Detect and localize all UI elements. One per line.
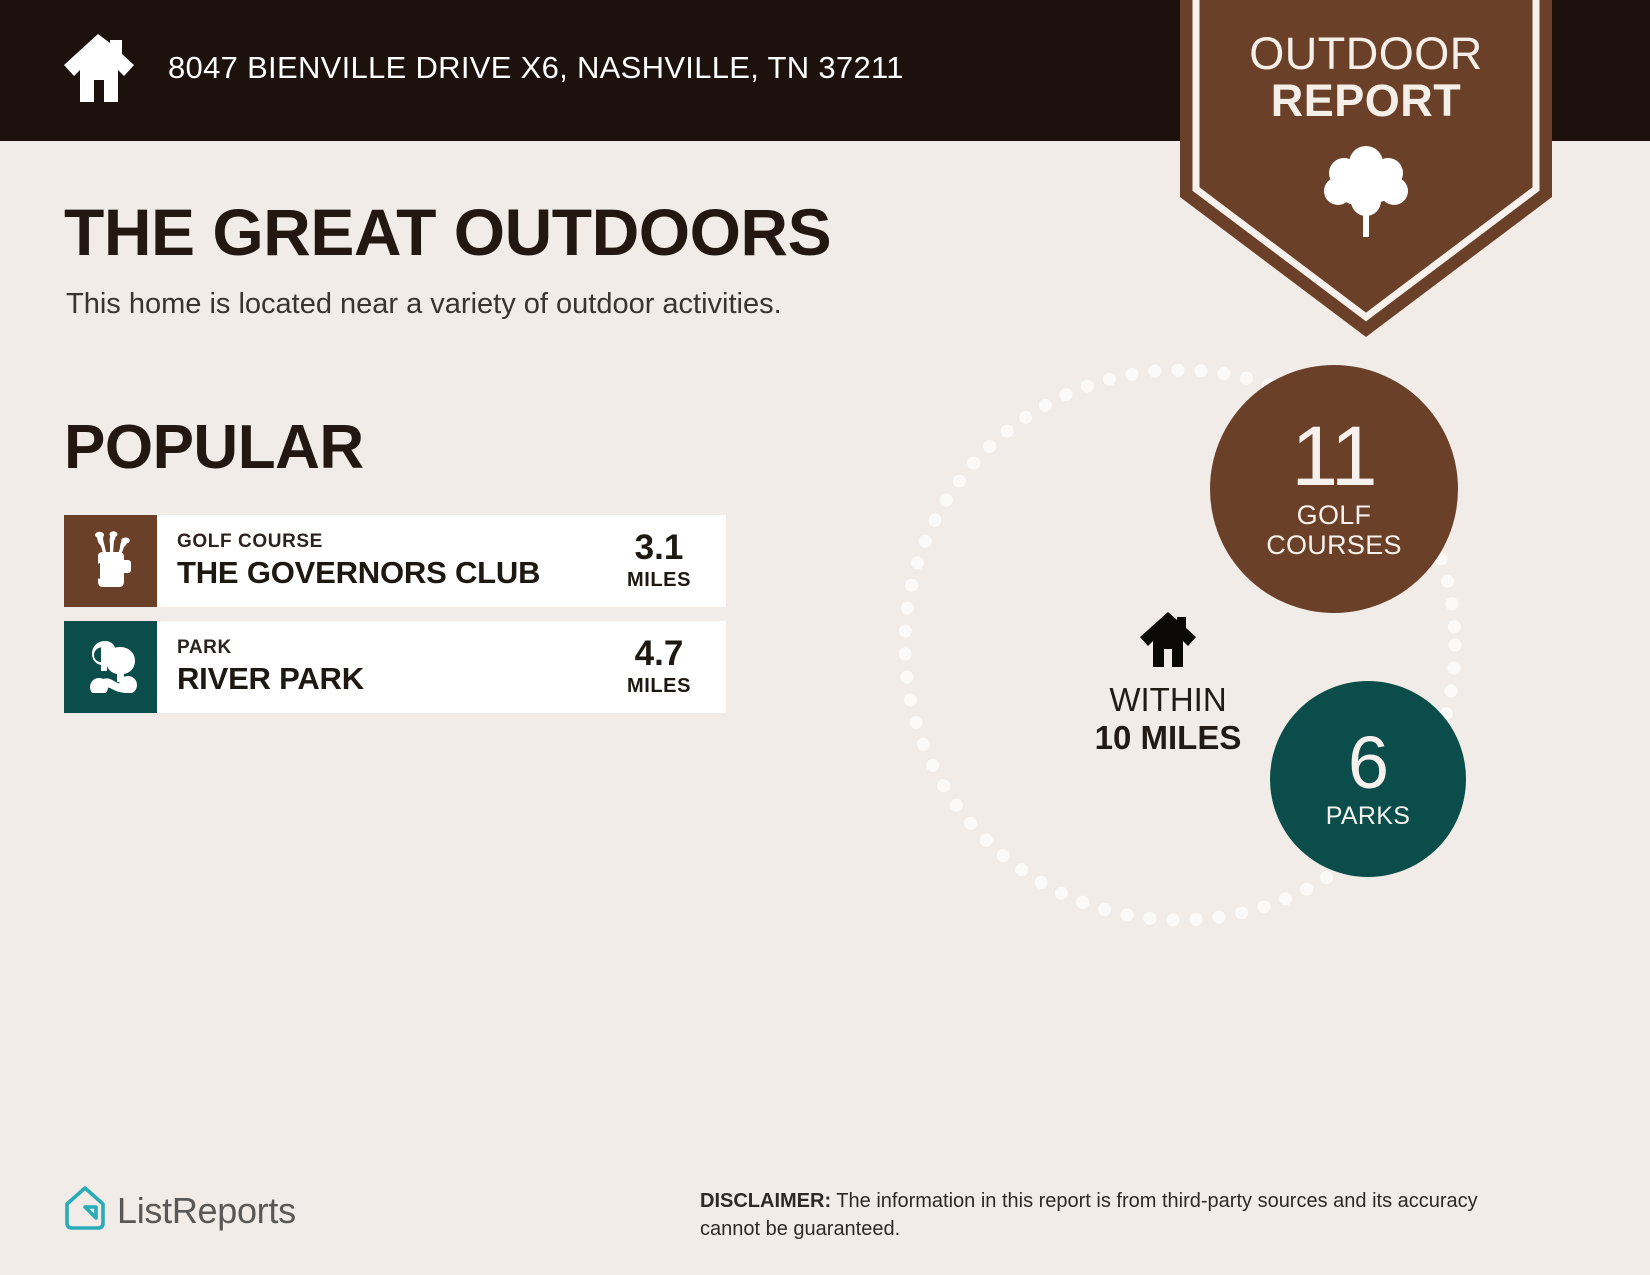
parks-label: PARKS <box>1326 803 1410 830</box>
golf-course-label-line1: GOLF <box>1297 500 1372 530</box>
poi-distance-container: 4.7 MILES <box>606 621 726 713</box>
poi-text-container: GOLF COURSE THE GOVERNORS CLUB <box>157 515 606 607</box>
poi-category: PARK <box>177 637 606 659</box>
listreports-logo[interactable]: ListReports <box>63 1185 296 1236</box>
badge-title-line1: OUTDOOR <box>1180 30 1552 77</box>
poi-name: THE GOVERNORS CLUB <box>177 555 606 591</box>
badge-title-line2: REPORT <box>1180 77 1552 124</box>
outdoor-report-page: 8047 BIENVILLE DRIVE X6, NASHVILLE, TN 3… <box>0 0 1650 1275</box>
popular-list: GOLF COURSE THE GOVERNORS CLUB 3.1 MILES <box>64 515 726 727</box>
golf-course-label-line2: COURSES <box>1266 530 1402 560</box>
poi-distance-unit: MILES <box>627 568 691 592</box>
stat-circle-parks[interactable]: 6 PARKS <box>1270 681 1466 877</box>
list-item[interactable]: PARK RIVER PARK 4.7 MILES <box>64 621 726 713</box>
badge-text-block: OUTDOOR REPORT <box>1180 30 1552 125</box>
list-item[interactable]: GOLF COURSE THE GOVERNORS CLUB 3.1 MILES <box>64 515 726 607</box>
stat-circle-golf-courses[interactable]: 11 GOLF COURSES <box>1210 365 1458 613</box>
outdoor-report-badge: OUTDOOR REPORT <box>1180 0 1552 337</box>
poi-distance-container: 3.1 MILES <box>606 515 726 607</box>
center-home-marker: WITHIN 10 MILES <box>1058 610 1278 757</box>
poi-distance-value: 4.7 <box>635 636 684 673</box>
poi-icon-container <box>64 621 157 713</box>
parks-count: 6 <box>1348 728 1388 798</box>
property-address: 8047 BIENVILLE DRIVE X6, NASHVILLE, TN 3… <box>168 50 904 86</box>
golf-course-label: GOLF COURSES <box>1266 501 1402 559</box>
listreports-house-icon <box>63 1185 107 1236</box>
poi-icon-container <box>64 515 157 607</box>
poi-distance-unit: MILES <box>627 674 691 698</box>
disclaimer: DISCLAIMER: The information in this repo… <box>700 1187 1510 1244</box>
radius-label-line2: 10 MILES <box>1058 719 1278 757</box>
section-title-popular: POPULAR <box>64 412 364 483</box>
golf-course-count: 11 <box>1291 418 1376 495</box>
radius-label-line1: WITHIN <box>1058 681 1278 719</box>
poi-category: GOLF COURSE <box>177 531 606 553</box>
listreports-wordmark: ListReports <box>117 1190 296 1232</box>
home-icon <box>1058 610 1278 673</box>
disclaimer-label: DISCLAIMER: <box>700 1190 831 1212</box>
poi-text-container: PARK RIVER PARK <box>157 621 606 713</box>
poi-name: RIVER PARK <box>177 661 606 697</box>
page-subtitle: This home is located near a variety of o… <box>66 288 782 321</box>
radius-visualization: 11 GOLF COURSES 6 PARKS WITHIN 10 MILES <box>820 355 1540 975</box>
home-icon <box>60 32 136 104</box>
poi-distance-value: 3.1 <box>635 530 684 567</box>
park-trees-icon <box>84 637 138 698</box>
golf-bag-icon <box>87 530 135 593</box>
page-title: THE GREAT OUTDOORS <box>64 194 831 270</box>
